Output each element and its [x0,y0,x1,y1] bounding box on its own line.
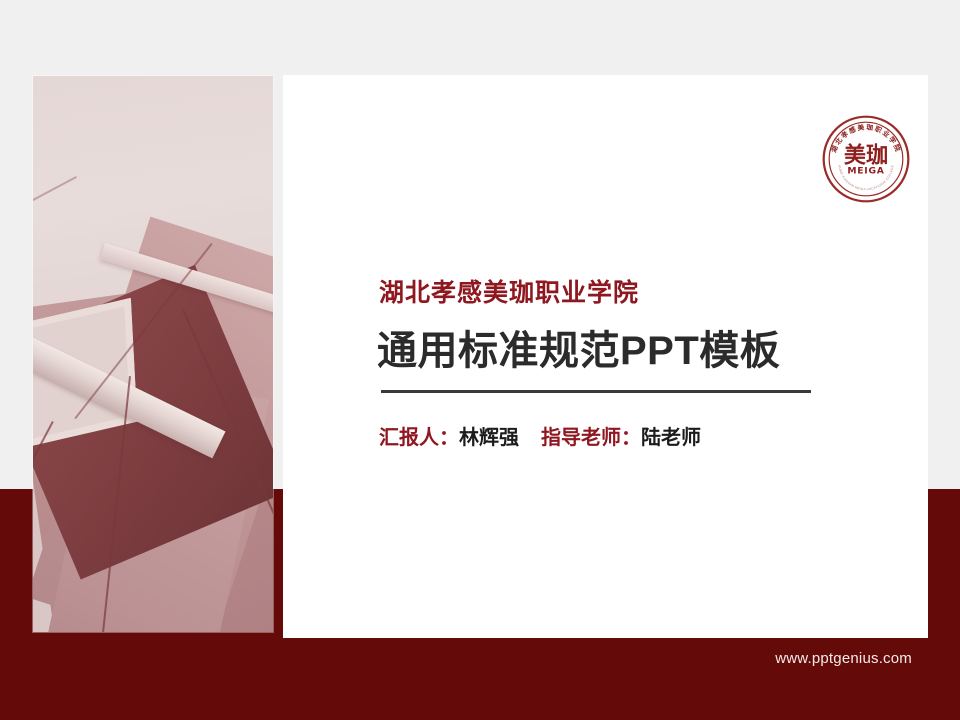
cover-photo [33,76,273,632]
footer-website-url: www.pptgenius.com [775,650,912,667]
cover-photo-artwork [33,76,273,632]
seal-center-en: MEIGA [847,166,884,177]
advisor-label: 指导老师： [541,427,641,449]
advisor-name: 陆老师 [641,427,701,449]
reporter-label: 汇报人： [379,427,459,449]
seal-center-cn: 美珈 [844,143,888,169]
title-divider [381,390,811,393]
page-title: 通用标准规范PPT模板 [377,318,780,376]
institution-name: 湖北孝感美珈职业学院 [379,273,639,309]
reporter-name: 林辉强 [459,427,519,449]
presenter-line: 汇报人：林辉强指导老师：陆老师 [379,421,701,450]
meiga-seal-logo-icon: 湖北孝感美珈职业学院 HUBEI XIAOGAN MEIGA VOCATIONA… [820,113,912,205]
presentation-slide: 湖北孝感美珈职业学院 HUBEI XIAOGAN MEIGA VOCATIONA… [0,0,960,720]
